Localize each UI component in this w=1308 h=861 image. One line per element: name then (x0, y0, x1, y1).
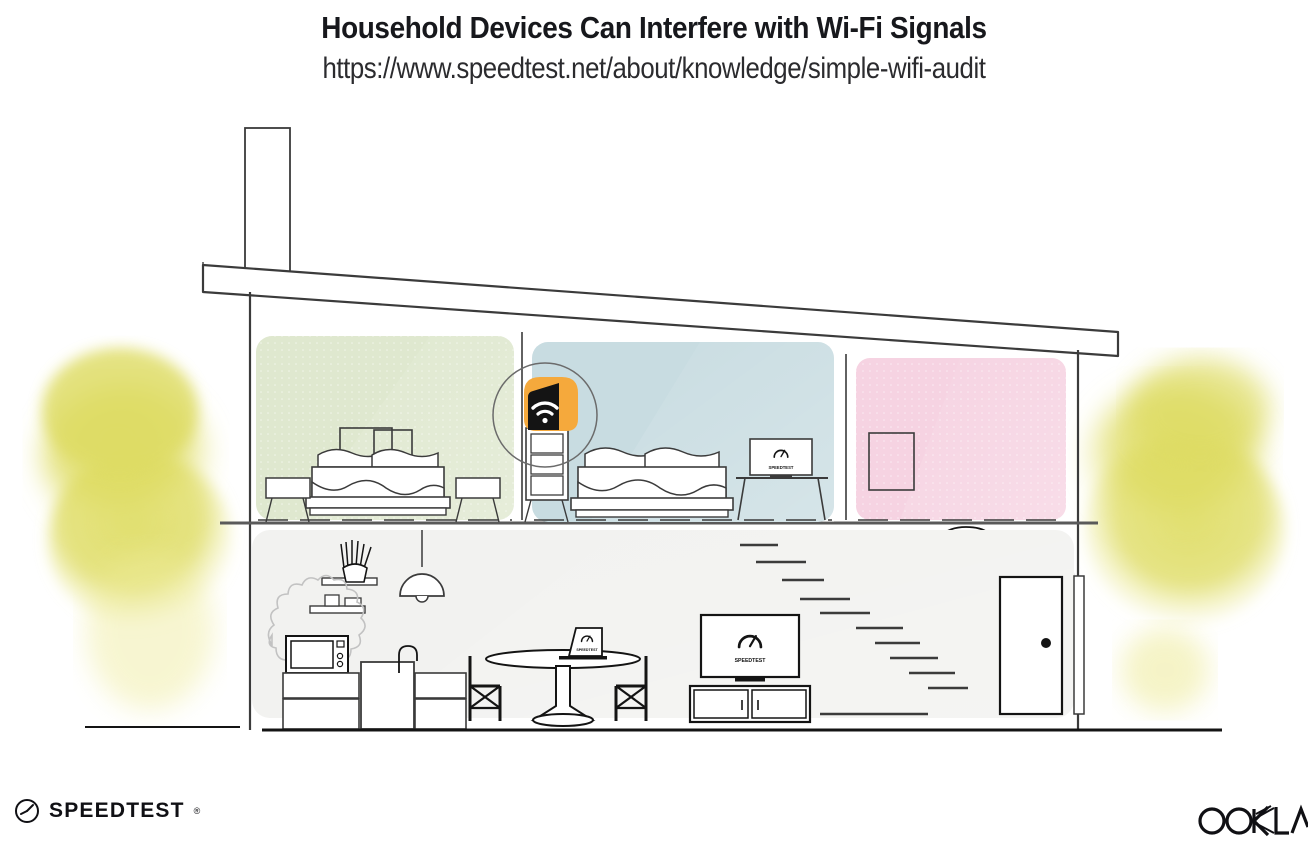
ground-line (85, 727, 1222, 730)
microwave[interactable] (286, 636, 348, 673)
monitor[interactable]: SPEEDTEST (750, 439, 812, 478)
room-bedroom-blue: SPEEDTEST (493, 342, 834, 522)
page-title: Household Devices Can Interfere with Wi-… (65, 0, 1242, 46)
tree-right (1085, 358, 1285, 712)
tv-screen-label: SPEEDTEST (735, 658, 767, 664)
laptop-screen-label: SPEEDTEST (576, 648, 598, 652)
media-console (690, 686, 810, 722)
header: Household Devices Can Interfere with Wi-… (0, 0, 1308, 86)
wifi-router[interactable] (524, 377, 578, 431)
source-url: https://www.speedtest.net/about/knowledg… (92, 46, 1217, 86)
television[interactable]: SPEEDTEST (701, 615, 799, 682)
monitor-screen-label: SPEEDTEST (769, 465, 794, 470)
speedtest-logo: SPEEDTEST ® (14, 798, 200, 824)
bed-blue (571, 448, 733, 517)
speedometer-icon (14, 798, 40, 824)
house-illustration: SPEEDTEST (0, 110, 1308, 750)
room-lower-level: SPEEDTEST (252, 530, 1084, 729)
footer: SPEEDTEST ® (0, 780, 1308, 861)
room-bedroom-green (256, 336, 514, 522)
front-door[interactable] (1000, 577, 1062, 714)
tree-left (40, 348, 232, 710)
door-knob (1041, 638, 1051, 648)
ookla-logo (1196, 800, 1308, 845)
chimney (245, 128, 290, 280)
speedtest-trademark: ® (194, 806, 201, 816)
speedtest-wordmark: SPEEDTEST (49, 799, 185, 823)
bed-green (306, 449, 450, 515)
poster-root: Household Devices Can Interfere with Wi-… (0, 0, 1308, 861)
ookla-wordmark (1196, 800, 1308, 840)
side-window (1074, 576, 1084, 714)
